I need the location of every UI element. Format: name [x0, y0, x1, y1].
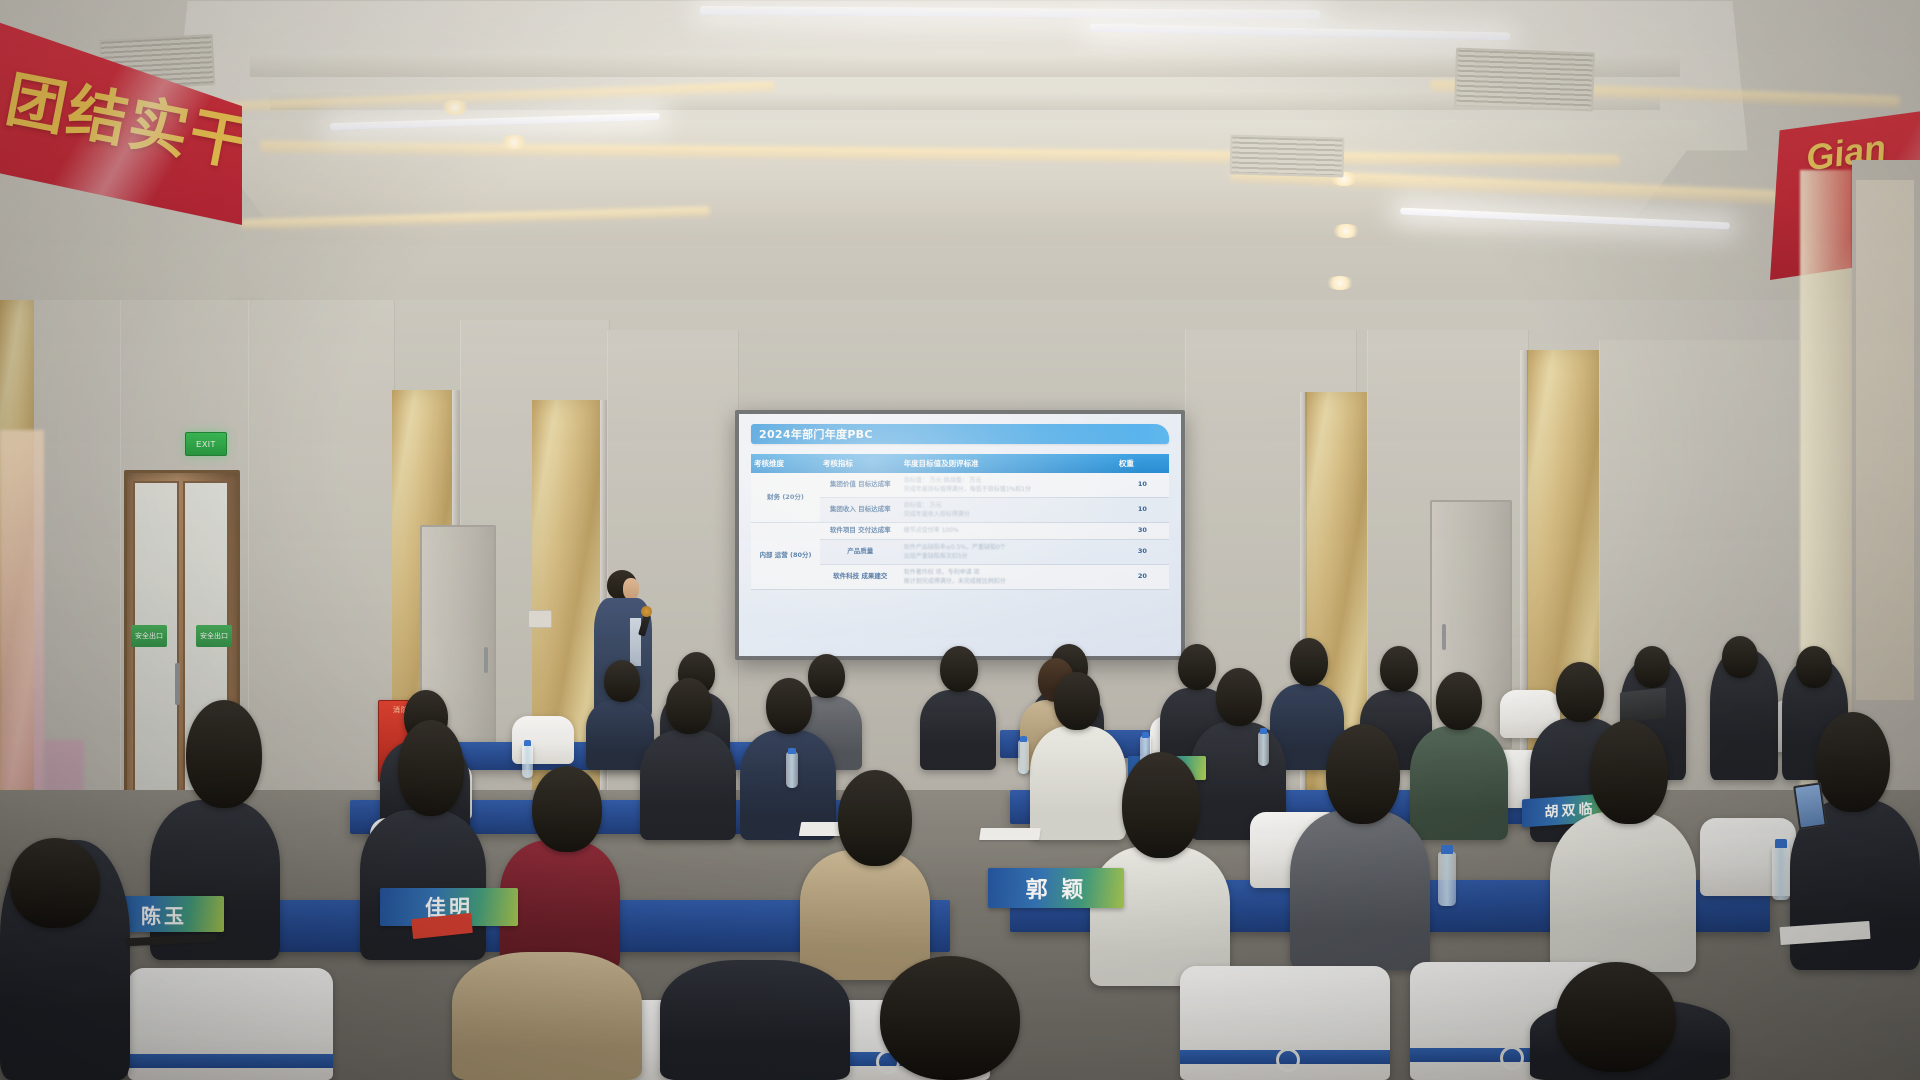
detail-text-4: 按计划完成得满分，未完成按比例扣分	[904, 577, 1113, 586]
slide-content: 2024年部门年度PBC 考核维度 考核指标 年度目标值及则评标准 权重 财务	[739, 414, 1181, 656]
downlight-8	[1332, 224, 1360, 238]
attendee-head	[766, 678, 812, 734]
attendee-head	[1590, 720, 1668, 824]
attendee-head	[940, 646, 978, 692]
downlight-10	[440, 100, 470, 115]
criteria-text-3: 软件产品缺陷率≤0.5%，严重缺陷0个	[904, 543, 1113, 552]
projection-screen-surface: 2024年部门年度PBC 考核维度 考核指标 年度目标值及则评标准 权重 财务	[739, 414, 1181, 656]
col-criteria: 年度目标值及则评标准	[901, 454, 1116, 473]
laptop[interactable]	[1620, 688, 1666, 723]
chair-buckle	[1500, 1046, 1524, 1070]
cell-weight-3: 30	[1116, 539, 1169, 564]
mobile-phone[interactable]	[1793, 782, 1827, 829]
water-bottle[interactable]	[522, 744, 533, 778]
left-wall-light-strip	[0, 430, 44, 790]
attendee-head	[1326, 724, 1400, 824]
exit-sign: EXIT	[185, 432, 227, 456]
attendee-head	[532, 766, 602, 852]
water-bottle[interactable]	[1772, 846, 1790, 900]
attendee-body	[640, 730, 736, 840]
attendee-body	[500, 840, 620, 970]
col-dimension: 考核维度	[751, 454, 820, 473]
standing-attendee-head	[1722, 636, 1758, 678]
cell-indicator-3: 产品质量	[820, 539, 901, 564]
detail-text-1: 完成年度收入目标得满分	[904, 510, 1113, 519]
chair-buckle	[1276, 1048, 1300, 1072]
cell-criteria-3: 软件产品缺陷率≤0.5%，严重缺陷0个 出现严重缺陷每次扣5分	[901, 539, 1116, 564]
attendee-body	[1030, 726, 1126, 840]
detail-text-3: 出现严重缺陷每次扣5分	[904, 552, 1113, 561]
attendee-body	[1410, 726, 1508, 840]
chair	[1180, 966, 1390, 1080]
water-bottle[interactable]	[1258, 732, 1269, 766]
water-bottle[interactable]	[1438, 852, 1456, 906]
exit-wall-sign-left: 安全出口	[131, 625, 167, 647]
presenter-face	[623, 578, 639, 600]
attendee-body	[1550, 812, 1696, 972]
service-door-right-handle[interactable]	[1442, 624, 1446, 650]
criteria-text-0: 目标值： 万元 挑战值： 万元	[904, 476, 1113, 485]
cell-weight-4: 20	[1116, 564, 1169, 589]
pbc-table-header-row: 考核维度 考核指标 年度目标值及则评标准 权重	[751, 454, 1169, 473]
attendee-body	[920, 690, 996, 770]
foreground-attendee-head	[10, 838, 100, 928]
cell-dimension-operations: 内部 运营 (80分)	[751, 523, 820, 590]
detail-text-0: 完成年度目标值得满分，每低于目标值1%扣1分	[904, 485, 1113, 494]
attendee-head	[1122, 752, 1200, 858]
col-indicator: 考核指标	[820, 454, 901, 473]
chair-sash	[128, 1054, 333, 1068]
cell-indicator-2: 软件项目 交付达成率	[820, 523, 901, 540]
phone-screen	[1795, 785, 1824, 828]
cell-criteria-4: 软件著作权 项，专利申请 项 按计划完成得满分，未完成按比例扣分	[901, 564, 1116, 589]
wall-accent-far-right	[1856, 180, 1914, 700]
foreground-attendee-head	[880, 956, 1020, 1080]
col-weight: 权重	[1116, 454, 1169, 473]
water-bottle[interactable]	[786, 752, 798, 788]
attendee-head	[604, 660, 640, 702]
cell-dimension-finance: 财务 (20分)	[751, 473, 820, 523]
document-on-table[interactable]	[979, 828, 1041, 840]
microphone-head-icon	[641, 606, 652, 617]
table-row: 财务 (20分) 集团价值 目标达成率 目标值： 万元 挑战值： 万元 完成年度…	[751, 473, 1169, 498]
presenter-shirt	[630, 618, 641, 666]
standing-attendee-head	[1796, 646, 1832, 688]
wall-panel-left-3	[248, 300, 395, 860]
attendee-head	[1178, 644, 1216, 690]
attendee-head	[398, 720, 464, 816]
attendee-head	[838, 770, 912, 866]
projection-screen: 2024年部门年度PBC 考核维度 考核指标 年度目标值及则评标准 权重 财务	[735, 410, 1185, 660]
ac-vent-center-right	[1229, 135, 1344, 178]
attendee-head	[808, 654, 845, 698]
cell-indicator-0: 集团价值 目标达成率	[820, 473, 901, 498]
attendee-head	[186, 700, 262, 808]
exit-wall-sign-right: 安全出口	[196, 625, 232, 647]
foreground-attendee-body	[452, 952, 642, 1080]
light-switch-plate[interactable]	[528, 610, 552, 628]
door-handle-left[interactable]	[175, 663, 180, 705]
slide-title-bar: 2024年部门年度PBC	[751, 424, 1169, 444]
attendee-head	[1816, 712, 1890, 812]
slide-title: 2024年部门年度PBC	[759, 426, 873, 442]
cell-weight-2: 30	[1116, 523, 1169, 540]
foreground-attendee-body	[660, 960, 850, 1080]
ac-vent-right	[1454, 48, 1595, 112]
table-row: 内部 运营 (80分) 软件项目 交付达成率 按节点交付率 100% 30	[751, 523, 1169, 540]
service-door-left-handle[interactable]	[484, 647, 488, 673]
attendee-head	[1216, 668, 1262, 726]
attendee-head	[1436, 672, 1482, 730]
chair	[128, 968, 333, 1080]
cell-weight-0: 10	[1116, 473, 1169, 498]
attendee-head	[1380, 646, 1418, 692]
cell-weight-1: 10	[1116, 498, 1169, 523]
cell-criteria-2: 按节点交付率 100%	[901, 523, 1116, 540]
downlight-9	[1326, 276, 1354, 290]
pbc-table-body: 财务 (20分) 集团价值 目标达成率 目标值： 万元 挑战值： 万元 完成年度…	[751, 473, 1169, 589]
criteria-text-4: 软件著作权 项，专利申请 项	[904, 568, 1113, 577]
pbc-table: 考核维度 考核指标 年度目标值及则评标准 权重 财务 (20分) 集团价值 目标…	[751, 454, 1169, 590]
water-bottle[interactable]	[1018, 740, 1029, 774]
cell-indicator-4: 软件科技 成果建交	[820, 564, 901, 589]
attendee-head	[1556, 662, 1604, 722]
attendee-head	[1054, 672, 1100, 730]
attendee-body	[800, 850, 930, 980]
cell-criteria-0: 目标值： 万元 挑战值： 万元 完成年度目标值得满分，每低于目标值1%扣1分	[901, 473, 1116, 498]
name-placard: 郭 颖	[988, 868, 1124, 908]
cell-criteria-1: 目标值： 万元 完成年度收入目标得满分	[901, 498, 1116, 523]
conference-room-photo: 团结实干！ Gian 安全出口 安全出口 EXIT	[0, 0, 1920, 1080]
criteria-text-2: 按节点交付率 100%	[904, 526, 1113, 535]
downlight-11	[500, 135, 528, 149]
criteria-text-1: 目标值： 万元	[904, 501, 1113, 510]
foreground-attendee-head	[1556, 962, 1676, 1072]
cell-indicator-1: 集团收入 目标达成率	[820, 498, 901, 523]
standing-attendee-head	[1634, 646, 1670, 688]
attendee-body	[1090, 846, 1230, 986]
attendee-body	[1290, 810, 1430, 970]
attendee-head	[666, 678, 712, 734]
attendee-head	[1290, 638, 1328, 686]
